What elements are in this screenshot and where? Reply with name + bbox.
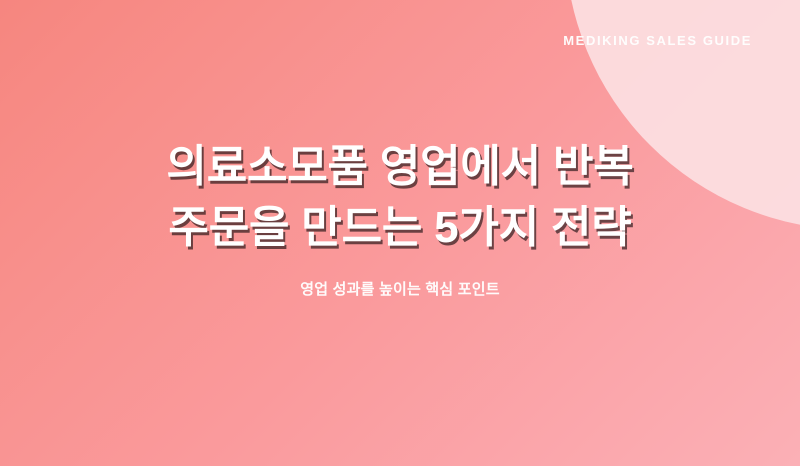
hero-banner: MEDIKING SALES GUIDE 의료소모품 영업에서 반복 주문을 만…	[0, 0, 800, 466]
brand-eyebrow-label: MEDIKING SALES GUIDE	[563, 33, 752, 49]
headline-line-2: 주문을 만드는 5가지 전략	[0, 197, 800, 258]
subtitle-text: 영업 성과를 높이는 핵심 포인트	[0, 280, 800, 300]
title-block: 의료소모품 영업에서 반복 주문을 만드는 5가지 전략 영업 성과를 높이는 …	[0, 136, 800, 300]
headline-line-1: 의료소모품 영업에서 반복	[0, 136, 800, 197]
